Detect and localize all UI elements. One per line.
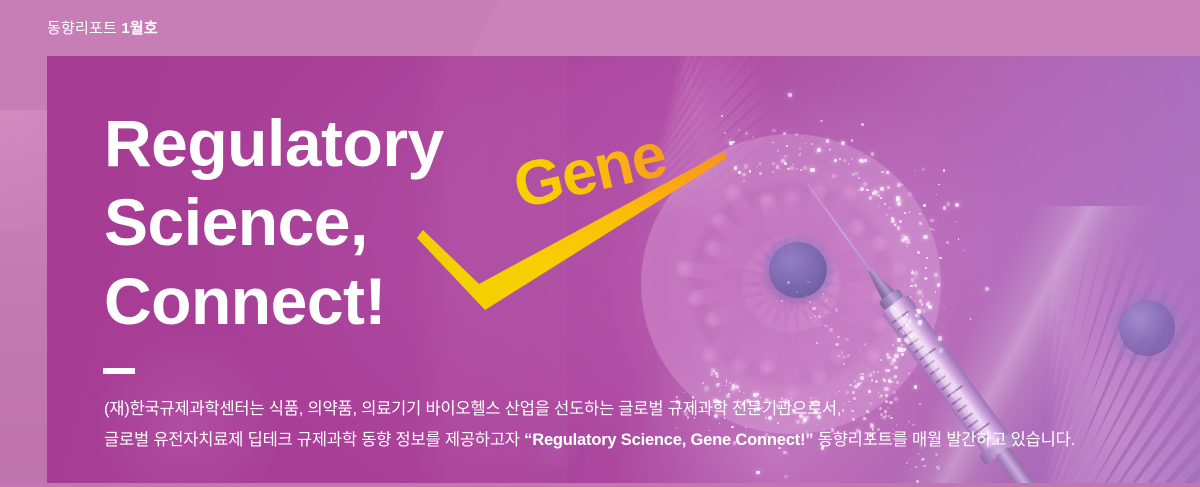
- lede-line-2-suffix: 동향리포트를 매월 발간하고 있습니다.: [813, 431, 1075, 449]
- background-wedge-corner: [0, 110, 48, 230]
- hero-copy: Regulatory Science, Connect!: [47, 56, 1200, 483]
- page-title: Regulatory Science, Connect!: [104, 104, 444, 341]
- title-rule: [103, 368, 135, 374]
- bottom-strip: [0, 483, 1200, 487]
- lede-report-name: “Regulatory Science, Gene Connect!”: [524, 431, 813, 449]
- report-issue-month: 1월호: [121, 20, 158, 37]
- banner-header: 동향리포트 1월호: [0, 0, 1200, 56]
- lede-line-1: (재)한국규제과학센터는 식품, 의약품, 의료기기 바이오헬스 산업을 선도하…: [104, 400, 841, 418]
- report-issue-text: 동향리포트: [47, 20, 121, 37]
- gene-logo-lockup: Gene: [407, 128, 737, 328]
- hero-banner: 동향리포트 1월호: [0, 0, 1200, 487]
- lede-line-2-prefix: 글로벌 유전자치료제 딥테크 규제과학 동향 정보를 제공하고자: [104, 431, 524, 449]
- report-issue-label: 동향리포트 1월호: [47, 21, 158, 36]
- hero-panel: Regulatory Science, Connect!: [47, 56, 1200, 483]
- hero-description: (재)한국규제과학센터는 식품, 의약품, 의료기기 바이오헬스 산업을 선도하…: [104, 394, 1184, 456]
